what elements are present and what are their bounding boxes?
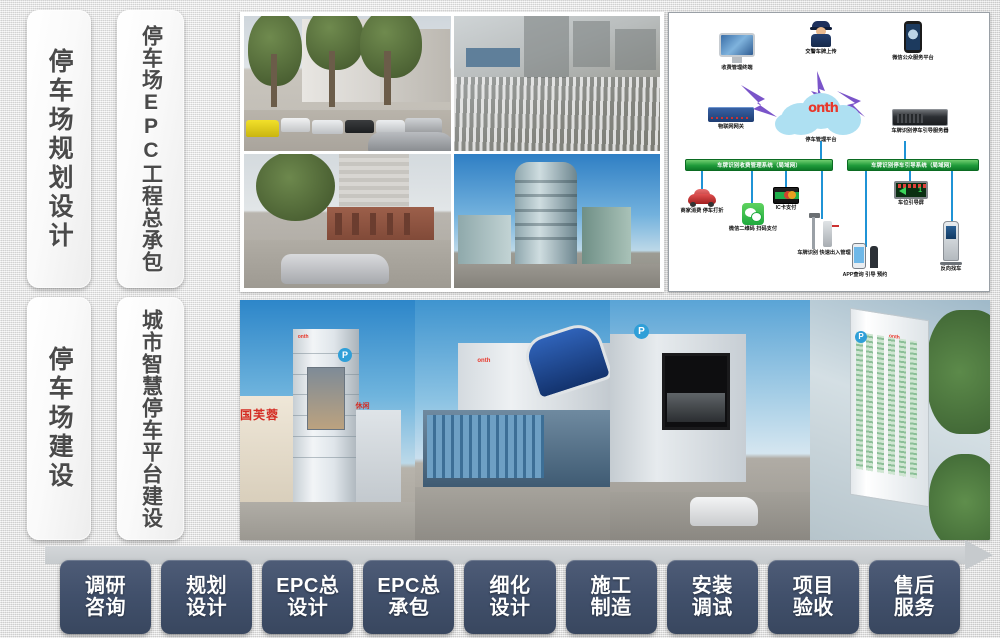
wechat-icon <box>742 203 764 225</box>
diagram-item-merchant-discount: 商家消费 停车打折 <box>677 189 727 215</box>
server-icon <box>892 109 948 126</box>
connector-line <box>751 171 753 205</box>
connector-line <box>701 171 703 191</box>
diagram-node-label: 停车管理平台 <box>779 137 863 144</box>
diagram-node-lpr-guidance-server: 车牌识别停车引导服务器 <box>865 109 975 135</box>
diagram-node-label: 收费管理终端 <box>697 65 777 72</box>
ic-card-icon <box>773 187 799 204</box>
diagram-node-label: 微信公众服务平台 <box>865 55 961 62</box>
category-card-parking-construction[interactable]: 停车场建设 <box>27 297 91 540</box>
process-step-detailed-design[interactable]: 细化 设计 <box>464 560 555 634</box>
category-card-parking-epc-contracting[interactable]: 停车场EPC工程总承包 <box>117 10 184 288</box>
process-step-project-acceptance[interactable]: 项目 验收 <box>768 560 859 634</box>
category-card-label: 停车场建设 <box>46 346 72 491</box>
diagram-item-label: 微信二维码 扫码支付 <box>727 226 779 233</box>
category-card-parking-planning-design[interactable]: 停车场规划设计 <box>27 10 91 288</box>
process-step-survey-consulting[interactable]: 调研 咨询 <box>60 560 151 634</box>
connector-line <box>865 171 867 247</box>
mobile-app-icon <box>852 241 878 271</box>
led-sign-icon: 1 <box>894 181 928 199</box>
photo-street-parking-lot <box>244 16 451 151</box>
diagram-node-toll-terminal: 收费管理终端 <box>697 33 777 72</box>
router-icon <box>708 107 754 122</box>
cloud-platform-icon: onth <box>775 91 867 137</box>
process-steps: 调研 咨询 规划 设计 EPC总 设计 EPC总 承包 细化 设计 施工 制造 … <box>60 560 960 634</box>
car-icon <box>688 189 716 207</box>
process-step-construction-manufacturing[interactable]: 施工 制造 <box>566 560 657 634</box>
gate-barrier-icon <box>809 213 839 249</box>
diagram-node-wechat-platform: 微信公众服务平台 <box>865 21 961 62</box>
rendering-logo: onth <box>298 334 309 340</box>
rendering-tower-garage-street-view: 国芙蓉 onth P 休闲 <box>240 300 415 540</box>
photo-grid <box>240 12 664 292</box>
process-step-after-sales-service[interactable]: 售后 服务 <box>869 560 960 634</box>
smartphone-icon <box>904 21 922 53</box>
diagram-item-label: 商家消费 停车打折 <box>677 208 727 215</box>
photo-lot-with-brick-building <box>244 154 451 289</box>
process-step-planning-design[interactable]: 规划 设计 <box>161 560 252 634</box>
rendering-logo: onth <box>889 333 900 341</box>
category-card-label: 停车场EPC工程总承包 <box>139 25 161 273</box>
connector-line <box>821 171 823 219</box>
photo-aerial-parking-lot <box>454 16 661 151</box>
diagram-node-label: 交警车牌上传 <box>785 49 857 56</box>
diagram-node-label: 物联网网关 <box>691 124 771 131</box>
rendering-logo: onth <box>477 358 490 364</box>
cloud-logo: onth <box>801 101 845 116</box>
diagram-node-label: 车牌识别停车引导服务器 <box>865 128 975 135</box>
category-card-smart-parking-platform[interactable]: 城市智慧停车平台建设 <box>117 297 184 540</box>
rendering-garage-with-led-billboard: P <box>610 300 810 540</box>
process-step-installation-commissioning[interactable]: 安装 调试 <box>667 560 758 634</box>
rendering-aerial-tower-garage: P onth <box>810 300 990 540</box>
police-officer-icon <box>810 21 832 47</box>
diagram-item-app-query-guidance: APP查询 引导 预约 <box>841 241 889 279</box>
system-bar-lpr-parking-guidance: 车牌识别停车引导系统（局域网） <box>847 159 979 171</box>
diagram-item-label: 车位引导屏 <box>887 200 935 207</box>
diagram-item-parking-guidance-screen: 1 车位引导屏 <box>887 181 935 207</box>
category-card-label: 城市智慧停车平台建设 <box>139 309 161 529</box>
photo-office-tower <box>454 154 661 289</box>
rendering-garage-facade-with-blue-car: onth <box>415 300 610 540</box>
process-step-epc-general-contracting[interactable]: EPC总 承包 <box>363 560 454 634</box>
diagram-node-iot-gateway: 物联网网关 <box>691 107 771 131</box>
diagram-item-label: 反向找车 <box>927 266 975 273</box>
diagram-node-parking-platform: 停车管理平台 <box>779 137 863 144</box>
diagram-node-traffic-police: 交警车牌上传 <box>785 21 857 56</box>
led-count: 1 <box>918 187 922 195</box>
diagram-item-label: IC卡支付 <box>765 205 807 212</box>
connector-line <box>951 171 953 225</box>
rendering-strip: 国芙蓉 onth P 休闲 onth P P <box>240 300 990 540</box>
kiosk-icon <box>939 221 963 265</box>
diagram-item-label: APP查询 引导 预约 <box>841 272 889 279</box>
parking-badge: P <box>634 324 649 339</box>
system-bar-lpr-toll-management: 车牌识别收费管理系统（局域网） <box>685 159 833 171</box>
rendering-sign-text-2: 休闲 <box>356 401 370 411</box>
diagram-item-reverse-car-finding: 反向找车 <box>927 221 975 273</box>
category-card-label: 停车场规划设计 <box>46 48 72 251</box>
system-architecture-diagram: 收费管理终端 交警车牌上传 微信公众服务平台 onth 停车管理平台 物联网网关… <box>668 12 990 292</box>
rendering-sign-text: 国芙蓉 <box>240 406 279 423</box>
process-step-epc-overall-design[interactable]: EPC总 设计 <box>262 560 353 634</box>
diagram-item-ic-card-payment: IC卡支付 <box>765 187 807 212</box>
parking-badge: P <box>338 348 352 362</box>
monitor-icon <box>719 33 755 63</box>
